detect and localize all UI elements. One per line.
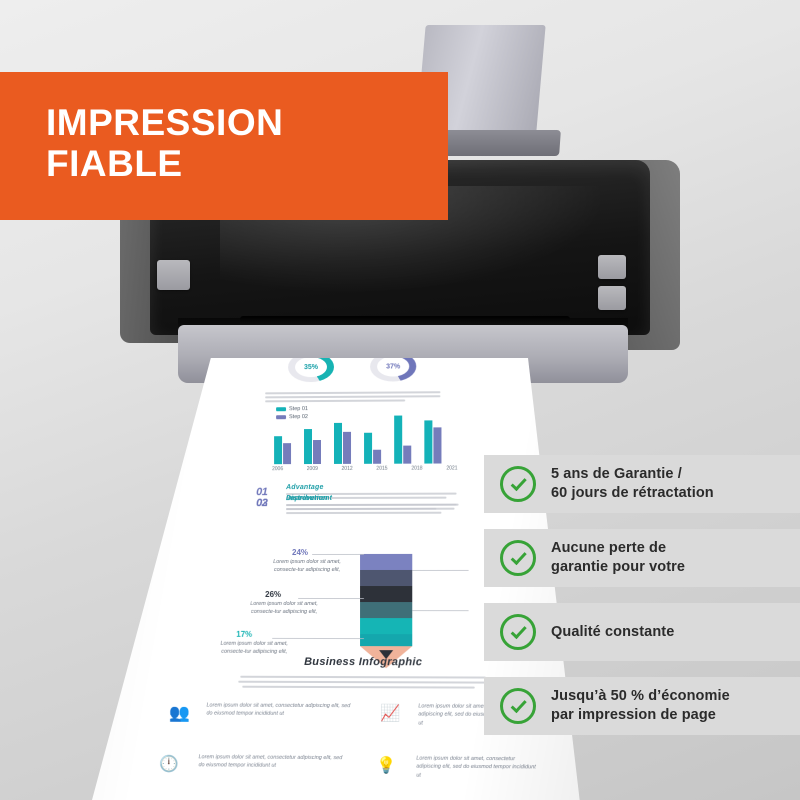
feature-badge-text: 5 ans de Garantie / 60 jours de rétracta… <box>551 465 714 502</box>
check-circle-icon <box>500 614 536 650</box>
headline-line-2: FIABLE <box>46 143 283 184</box>
feature-badge-text: Aucune perte de garantie pour votre <box>551 539 685 576</box>
headline-banner: IMPRESSION FIABLE <box>0 72 448 220</box>
feature-line-1: 5 ans de Garantie / <box>551 466 682 482</box>
feature-badge[interactable]: Jusqu’à 50 % d’économie par impression d… <box>484 677 800 735</box>
feature-badge-text: Jusqu’à 50 % d’économie par impression d… <box>551 687 730 724</box>
feature-badge[interactable]: Qualité constante <box>484 603 800 661</box>
feature-line-1: Aucune perte de <box>551 540 666 556</box>
feature-line-2: garantie pour votre <box>551 559 685 575</box>
check-circle-icon <box>500 540 536 576</box>
feature-badge-text: Qualité constante <box>551 623 674 642</box>
feature-line-2: par impression de page <box>551 707 716 723</box>
printer-button-left[interactable] <box>157 260 190 290</box>
headline-line-1: IMPRESSION <box>46 102 283 143</box>
check-circle-icon <box>500 466 536 502</box>
feature-line-1: Qualité constante <box>551 624 674 640</box>
check-circle-icon <box>500 688 536 724</box>
feature-line-2: 60 jours de rétractation <box>551 485 714 501</box>
feature-badge[interactable]: Aucune perte de garantie pour votre <box>484 529 800 587</box>
feature-badge[interactable]: 5 ans de Garantie / 60 jours de rétracta… <box>484 455 800 513</box>
feature-line-1: Jusqu’à 50 % d’économie <box>551 688 730 704</box>
poster-canvas: Banner Infographics 35% 37% Step 01 Step… <box>0 0 800 800</box>
feature-badge-list: 5 ans de Garantie / 60 jours de rétracta… <box>484 455 800 735</box>
printer-button-right-bottom[interactable] <box>598 286 626 310</box>
printer-button-right-top[interactable] <box>598 255 626 279</box>
page-title: IMPRESSION FIABLE <box>46 102 283 185</box>
